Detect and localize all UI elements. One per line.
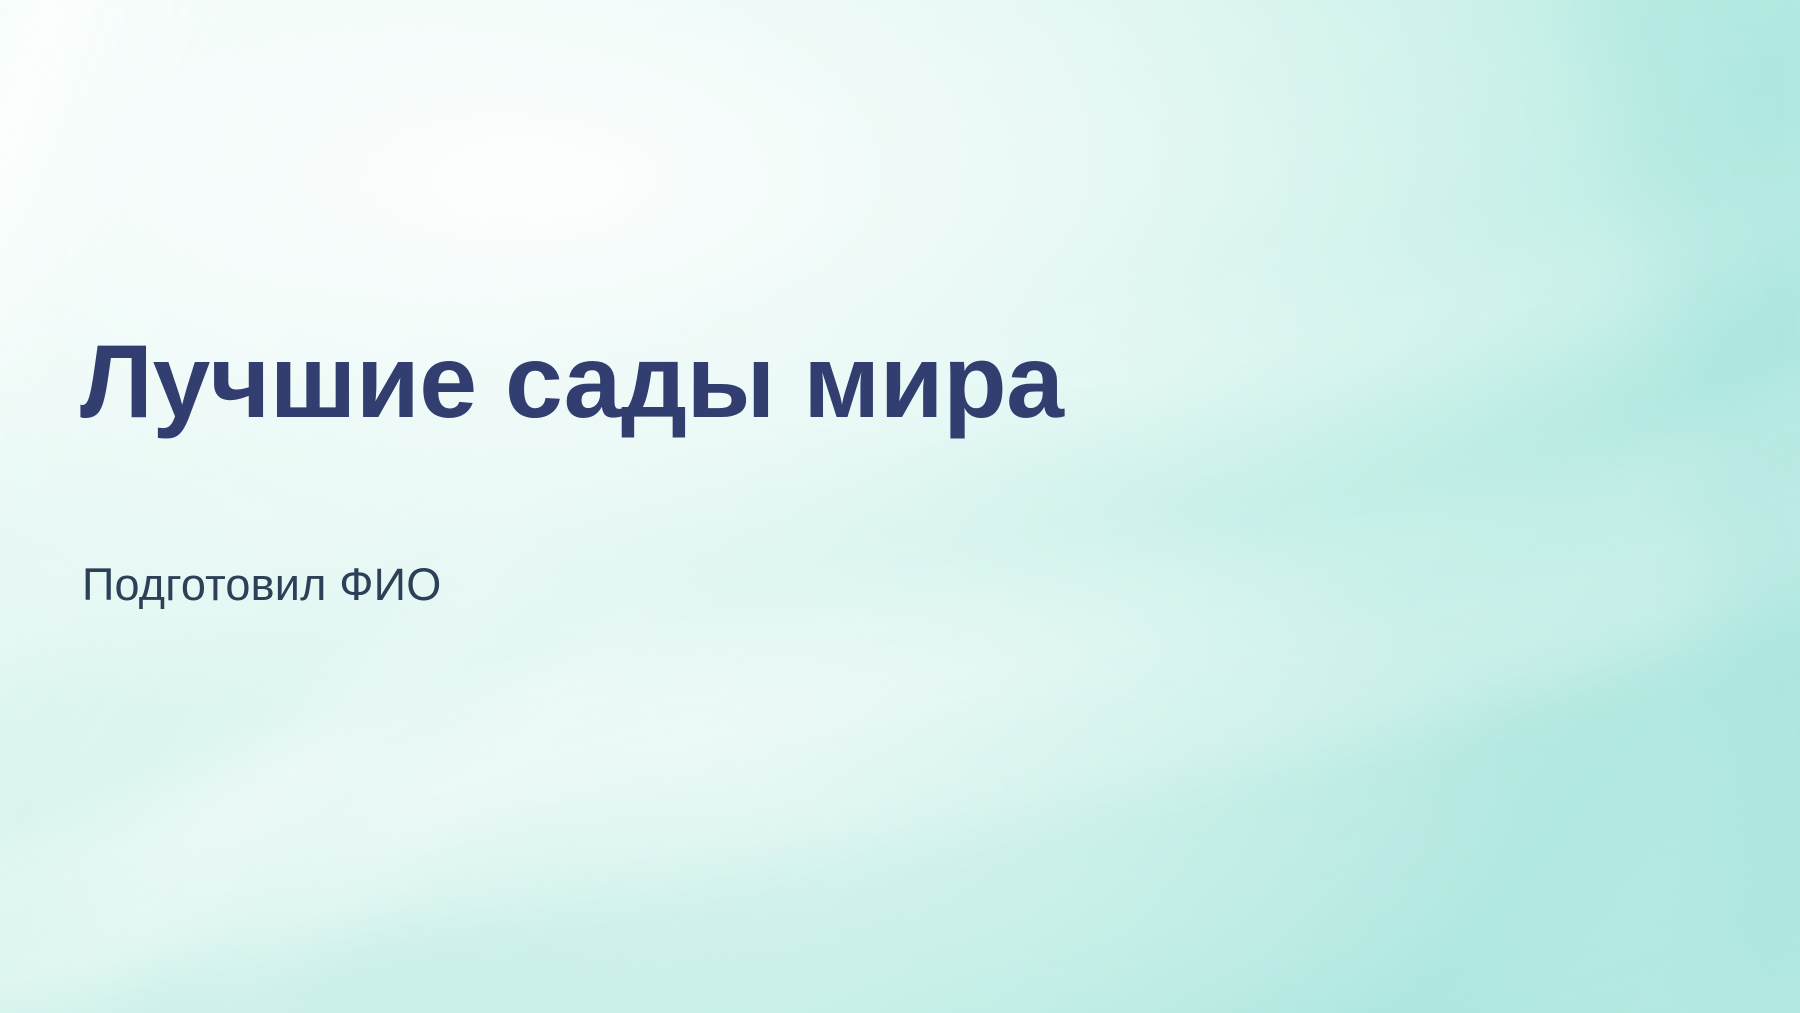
slide-title: Лучшие сады мира xyxy=(80,330,1063,434)
presentation-title-slide: Лучшие сады мира Подготовил ФИО xyxy=(0,0,1800,1013)
slide-subtitle-author: Подготовил ФИО xyxy=(82,562,441,607)
slide-text-block: Лучшие сады мира Подготовил ФИО xyxy=(80,0,1480,1013)
